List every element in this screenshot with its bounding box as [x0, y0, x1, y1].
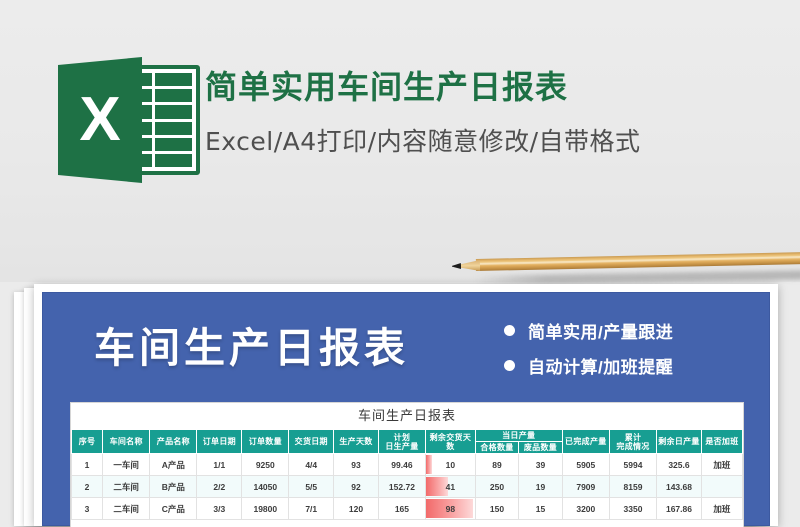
cell-value: 3	[85, 504, 90, 514]
cell-value: 2	[85, 482, 90, 492]
cell-value: 19800	[253, 504, 277, 514]
cell-seq[interactable]: 2	[72, 476, 103, 498]
cell-product[interactable]: C产品	[150, 498, 197, 520]
cell-value: 98	[446, 504, 455, 514]
cell-value: 二车间	[113, 504, 139, 514]
cell-value: 167.86	[666, 504, 692, 514]
table-row[interactable]: 2二车间B产品2/2140505/592152.7241250197909815…	[72, 476, 743, 498]
col-header-cumulative-line1: 累计	[625, 433, 642, 442]
report-preview-panel: 车间生产日报表 简单实用/产量跟进 自动计算/加班提醒 车间生产日报表	[42, 292, 770, 526]
cell-value: 89	[492, 460, 501, 470]
cell-remain-daily[interactable]: 143.68	[657, 476, 702, 498]
cell-overtime[interactable]: 加班	[701, 454, 742, 476]
worksheet-title: 车间生产日报表	[71, 403, 743, 429]
feature-bullet-label: 自动计算/加班提醒	[528, 353, 673, 378]
feature-bullet-label: 简单实用/产量跟进	[528, 318, 673, 343]
cell-value: 41	[446, 482, 455, 492]
cell-value: 152.72	[389, 482, 415, 492]
cell-value: 250	[490, 482, 504, 492]
feature-bullet-list: 简单实用/产量跟进 自动计算/加班提醒	[504, 318, 673, 388]
cell-product[interactable]: A产品	[150, 454, 197, 476]
cell-value: 165	[395, 504, 409, 514]
excel-doc-glyph: X	[58, 57, 154, 183]
bullet-dot-icon	[504, 360, 515, 371]
cell-value: 19	[536, 482, 545, 492]
cell-value: 99.46	[391, 460, 412, 470]
cell-prod-days[interactable]: 93	[334, 454, 379, 476]
cell-qualified[interactable]: 89	[475, 454, 518, 476]
cell-prod-days[interactable]: 92	[334, 476, 379, 498]
cell-value: 加班	[713, 460, 730, 470]
col-header-delivery-date: 交货日期	[289, 430, 334, 454]
cell-value: 15	[536, 504, 545, 514]
banner-text-block: 简单实用车间生产日报表 Excel/A4打印/内容随意修改/自带格式	[205, 62, 795, 158]
cell-order-date[interactable]: 3/3	[197, 498, 242, 520]
production-table: 序号 车间名称 产品名称 订单日期 订单数量 交货日期 生产天数 计划 日生产量…	[71, 429, 743, 520]
cell-value: 7909	[576, 482, 595, 492]
cell-value: 92	[351, 482, 360, 492]
cell-value: 5905	[576, 460, 595, 470]
cell-value: 325.6	[668, 460, 689, 470]
promo-banner: X 简单实用车间生产日报表 Excel/A4打印/内容随意修改/自带格式	[0, 0, 800, 282]
cell-value: 5/5	[305, 482, 317, 492]
cell-value: 一车间	[113, 460, 139, 470]
cell-value: 93	[351, 460, 360, 470]
cell-remain-daily[interactable]: 167.86	[657, 498, 702, 520]
cell-order-date[interactable]: 2/2	[197, 476, 242, 498]
col-header-qualified: 合格数量	[475, 442, 518, 454]
cell-seq[interactable]: 3	[72, 498, 103, 520]
list-item: 简单实用/产量跟进	[504, 318, 673, 343]
cell-remain-days[interactable]: 98	[426, 498, 476, 520]
list-item: 自动计算/加班提醒	[504, 353, 673, 378]
cell-cumulative[interactable]: 8159	[609, 476, 656, 498]
cell-order-qty[interactable]: 14050	[242, 476, 289, 498]
cell-finished[interactable]: 5905	[562, 454, 609, 476]
cell-value: 8159	[624, 482, 643, 492]
report-title: 车间生产日报表	[94, 314, 409, 374]
cell-value: 143.68	[666, 482, 692, 492]
col-header-remain-days: 剩余交货天数	[426, 430, 476, 454]
worksheet-preview: 车间生产日报表 序号 车间名称 产品名称 订单日期 订单数量 交货日期 生产天数	[70, 402, 744, 527]
excel-logo-icon: X	[58, 57, 204, 183]
cell-value: 120	[349, 504, 363, 514]
col-header-today-output: 当日产量	[475, 430, 562, 442]
col-header-cumulative: 累计 完成情况	[609, 430, 656, 454]
table-row[interactable]: 3二车间C产品3/3198007/11201659815015320033501…	[72, 498, 743, 520]
cell-defective[interactable]: 39	[519, 454, 562, 476]
table-row[interactable]: 1一车间A产品1/192504/49399.461089395905599432…	[72, 454, 743, 476]
excel-letter-x: X	[58, 57, 142, 183]
cell-workshop[interactable]: 二车间	[103, 498, 150, 520]
col-header-plan-daily-line2: 日生产量	[385, 442, 418, 451]
cell-value: 14050	[253, 482, 277, 492]
col-header-overtime: 是否加班	[701, 430, 742, 454]
cell-cumulative[interactable]: 5994	[609, 454, 656, 476]
cell-prod-days[interactable]: 120	[334, 498, 379, 520]
page-subtitle: Excel/A4打印/内容随意修改/自带格式	[205, 122, 795, 158]
cell-remain-days[interactable]: 41	[426, 476, 476, 498]
cell-value: 150	[490, 504, 504, 514]
cell-value: 10	[446, 460, 455, 470]
table-header-row-1: 序号 车间名称 产品名称 订单日期 订单数量 交货日期 生产天数 计划 日生产量…	[72, 430, 743, 442]
report-header: 车间生产日报表 简单实用/产量跟进 自动计算/加班提醒	[42, 292, 770, 396]
cell-product[interactable]: B产品	[150, 476, 197, 498]
cell-value: 二车间	[113, 482, 139, 492]
cell-delivery-date[interactable]: 5/5	[289, 476, 334, 498]
col-header-defective: 废品数量	[519, 442, 562, 454]
cell-value: 9250	[256, 460, 275, 470]
cell-overtime[interactable]	[701, 476, 742, 498]
cell-order-qty[interactable]: 9250	[242, 454, 289, 476]
cell-remain-days[interactable]: 10	[426, 454, 476, 476]
pencil-icon	[452, 256, 800, 282]
col-header-product: 产品名称	[150, 430, 197, 454]
col-header-order-date: 订单日期	[197, 430, 242, 454]
cell-defective[interactable]: 19	[519, 476, 562, 498]
cell-qualified[interactable]: 250	[475, 476, 518, 498]
cell-workshop[interactable]: 一车间	[103, 454, 150, 476]
cell-order-qty[interactable]: 19800	[242, 498, 289, 520]
cell-plan-daily[interactable]: 165	[378, 498, 425, 520]
col-header-workshop: 车间名称	[103, 430, 150, 454]
cell-finished[interactable]: 7909	[562, 476, 609, 498]
cell-value: 5994	[624, 460, 643, 470]
cell-delivery-date[interactable]: 7/1	[289, 498, 334, 520]
cell-seq[interactable]: 1	[72, 454, 103, 476]
cell-value: A产品	[162, 460, 185, 470]
cell-value: 加班	[713, 504, 730, 514]
cell-value: 1	[85, 460, 90, 470]
col-header-prod-days: 生产天数	[334, 430, 379, 454]
cell-overtime[interactable]: 加班	[701, 498, 742, 520]
col-header-finished: 已完成产量	[562, 430, 609, 454]
cell-value: 1/1	[213, 460, 225, 470]
cell-value: 2/2	[213, 482, 225, 492]
cell-value: 3200	[576, 504, 595, 514]
cell-finished[interactable]: 3200	[562, 498, 609, 520]
cell-defective[interactable]: 15	[519, 498, 562, 520]
cell-workshop[interactable]: 二车间	[103, 476, 150, 498]
data-bar	[426, 455, 432, 474]
cell-cumulative[interactable]: 3350	[609, 498, 656, 520]
cell-value: 4/4	[305, 460, 317, 470]
cell-value: B产品	[162, 482, 185, 492]
col-header-seq: 序号	[72, 430, 103, 454]
col-header-plan-daily-line1: 计划	[394, 433, 411, 442]
cell-order-date[interactable]: 1/1	[197, 454, 242, 476]
cell-plan-daily[interactable]: 152.72	[378, 476, 425, 498]
col-header-plan-daily: 计划 日生产量	[378, 430, 425, 454]
col-header-order-qty: 订单数量	[242, 430, 289, 454]
cell-value: 3350	[624, 504, 643, 514]
cell-delivery-date[interactable]: 4/4	[289, 454, 334, 476]
col-header-remain-daily: 剩余日产量	[657, 430, 702, 454]
cell-plan-daily[interactable]: 99.46	[378, 454, 425, 476]
cell-value: 39	[536, 460, 545, 470]
bullet-dot-icon	[504, 325, 515, 336]
page-title: 简单实用车间生产日报表	[205, 62, 795, 108]
cell-value: 7/1	[305, 504, 317, 514]
cell-value: 3/3	[213, 504, 225, 514]
cell-value: C产品	[162, 504, 185, 514]
cell-remain-daily[interactable]: 325.6	[657, 454, 702, 476]
data-bar	[426, 477, 448, 496]
cell-qualified[interactable]: 150	[475, 498, 518, 520]
col-header-cumulative-line2: 完成情况	[616, 442, 649, 451]
